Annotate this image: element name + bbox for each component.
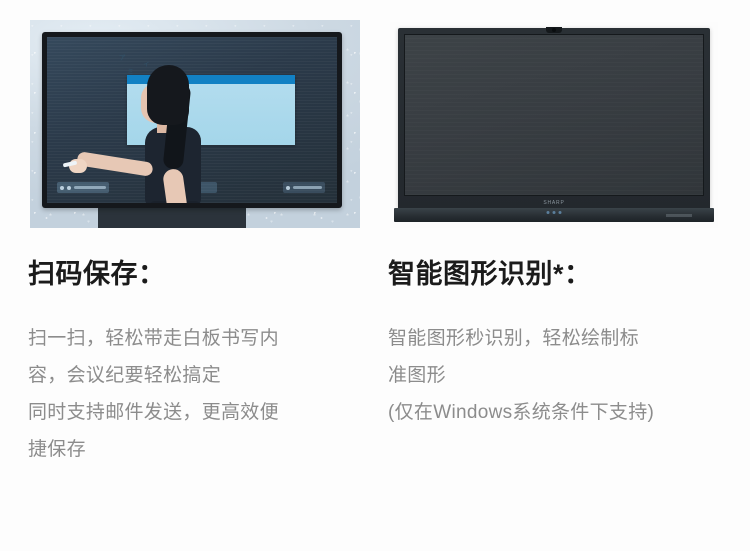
column-scan-save: ア ィ ミ <box>0 0 375 551</box>
photo-interactive-flat-panel-display-front: SHARP <box>390 22 718 228</box>
display-bottom-bezel: SHARP <box>404 197 704 208</box>
control-key <box>553 211 556 214</box>
display-screen <box>404 34 704 196</box>
description-line: 扫一扫，轻松带走白板书写内 <box>28 320 358 357</box>
description-line: 捷保存 <box>28 431 358 468</box>
toolbar-icon <box>67 186 71 190</box>
person-extended-arm <box>76 151 153 177</box>
whiteboard-bezel: ア ィ ミ <box>42 32 342 208</box>
person-hair <box>147 65 189 125</box>
description-line: 准图形 <box>388 357 733 394</box>
camera-icon <box>546 27 562 33</box>
whiteboard-toolbar-left <box>57 182 109 193</box>
page-title-smart-shape-recognition: 智能图形识别*： <box>388 252 592 291</box>
description-line: (仅在Windows系统条件下支持) <box>388 394 733 431</box>
control-key <box>559 211 562 214</box>
feature-panel-page: ア ィ ミ <box>0 0 750 551</box>
control-key <box>547 211 550 214</box>
toolbar-icon <box>286 186 290 190</box>
description-line: 智能图形秒识别，轻松绘制标 <box>388 320 733 357</box>
display-bezel: SHARP <box>398 28 710 210</box>
brand-logo: SHARP <box>543 200 564 206</box>
person-silhouette <box>125 65 235 203</box>
display-control-keys <box>547 211 562 214</box>
display-speaker-base <box>394 208 714 222</box>
toolbar-slider <box>74 186 106 189</box>
page-title-scan-save: 扫码保存： <box>28 252 166 291</box>
column-smart-shape-recognition: SHARP 智能图形识别*： 智能图形秒识别，轻松绘制标 准图形 (仅在Wind… <box>375 0 750 551</box>
description-scan-save: 扫一扫，轻松带走白板书写内 容，会议纪要轻松搞定 同时支持邮件发送，更高效便 捷… <box>28 320 358 468</box>
photo-person-writing-on-interactive-whiteboard: ア ィ ミ <box>30 20 360 228</box>
description-smart-shape-recognition: 智能图形秒识别，轻松绘制标 准图形 (仅在Windows系统条件下支持) <box>388 320 733 431</box>
whiteboard-stand <box>98 208 246 228</box>
description-line: 容，会议纪要轻松搞定 <box>28 357 358 394</box>
description-line: 同时支持邮件发送，更高效便 <box>28 394 358 431</box>
toolbar-slider <box>293 186 322 189</box>
display-port-slot <box>666 214 692 217</box>
whiteboard-screen: ア ィ ミ <box>47 37 337 203</box>
two-column-layout: ア ィ ミ <box>0 0 750 551</box>
whiteboard-toolbar-right <box>283 182 325 193</box>
handwriting-mark: ア <box>118 53 126 64</box>
toolbar-icon <box>60 186 64 190</box>
